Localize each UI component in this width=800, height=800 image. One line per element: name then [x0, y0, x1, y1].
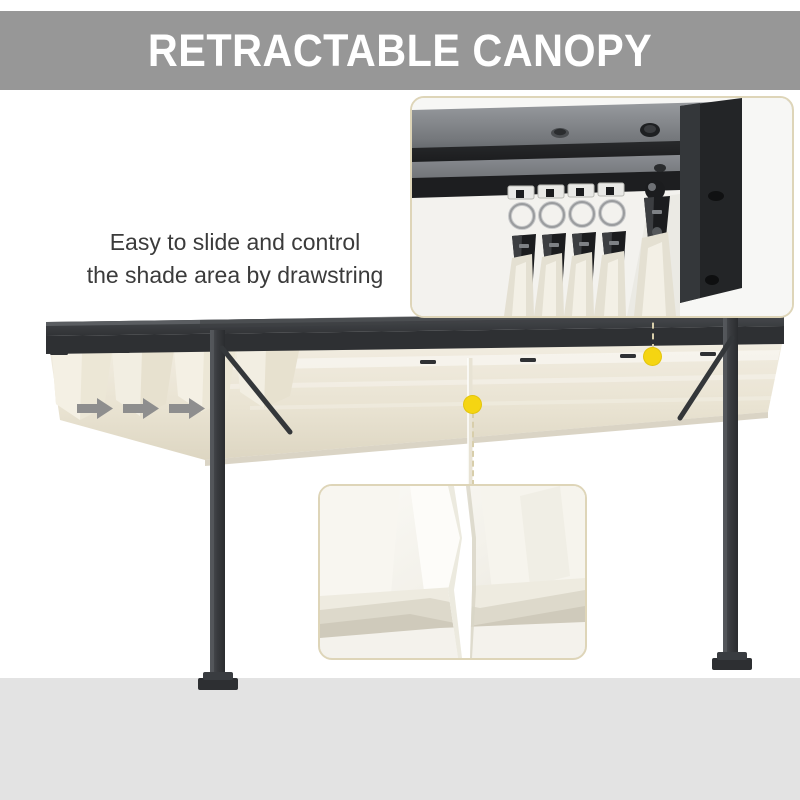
product-infographic: RETRACTABLE CANOPY Easy to slide and con…: [0, 0, 800, 800]
fabric-drawstring-photo: [320, 486, 585, 658]
feature-caption: Easy to slide and control the shade area…: [50, 226, 420, 291]
slide-direction-arrows: [75, 392, 215, 426]
drawstring-cord: [468, 358, 470, 500]
hotspot-marker-drawstring[interactable]: [464, 396, 481, 413]
caption-line-1: Easy to slide and control: [50, 226, 420, 259]
rail-hardware-photo: [412, 98, 792, 316]
inset-rail-hardware: [410, 96, 794, 318]
page-title: RETRACTABLE CANOPY: [148, 28, 652, 73]
header-banner: RETRACTABLE CANOPY: [0, 11, 800, 90]
arrow-right-icon: [123, 398, 159, 419]
hotspot-marker-rail[interactable]: [644, 348, 661, 365]
arrow-right-icon: [77, 398, 113, 419]
arrow-right-icon: [169, 398, 205, 419]
callout-connector-fabric: [472, 412, 474, 486]
inset-drawstring-fabric: [318, 484, 587, 660]
caption-line-2: the shade area by drawstring: [50, 259, 420, 292]
